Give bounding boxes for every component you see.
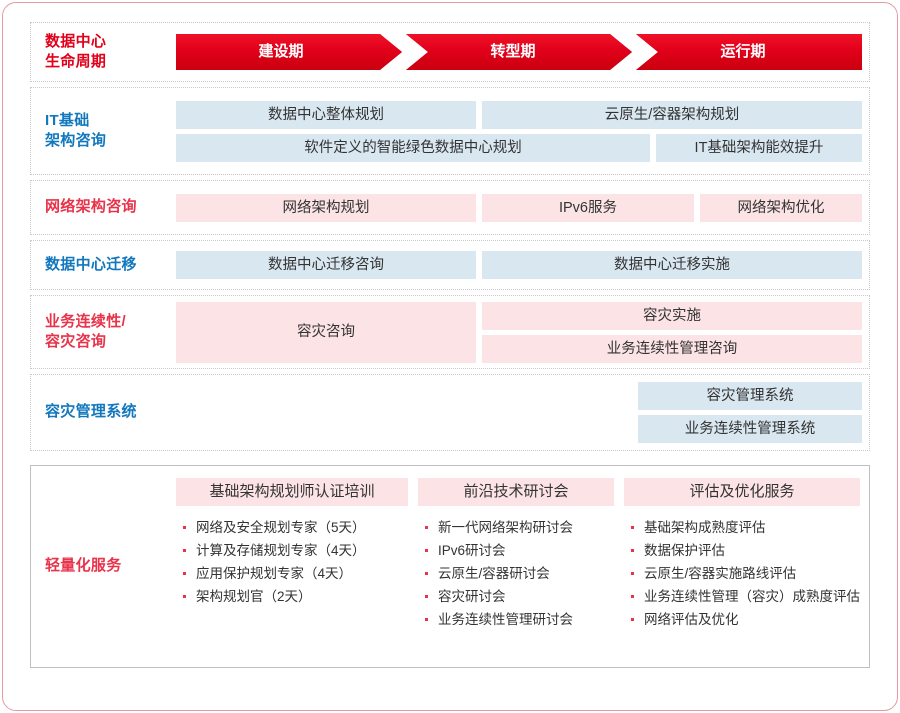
row-datacenter-lifecycle: 数据中心 生命周期 建设期 转型期 运行期: [30, 22, 870, 82]
service-cell[interactable]: 容灾咨询: [176, 302, 476, 363]
band: 容灾咨询 容灾实施 业务连续性管理咨询: [176, 302, 862, 363]
service-cell[interactable]: 网络架构优化: [700, 194, 862, 222]
phase-chevron-transformation[interactable]: 转型期: [406, 34, 632, 70]
phase-label-construction: 建设期: [258, 43, 303, 60]
list-item[interactable]: 新一代网络架构研讨会: [422, 516, 614, 539]
row-label-dr-management-system: 容灾管理系统: [31, 375, 176, 450]
row-lightweight-services: 轻量化服务 基础架构规划师认证培训 网络及安全规划专家（5天） 计算及存储规划专…: [30, 465, 870, 668]
row-label-datacenter-migration-text: 数据中心迁移: [45, 255, 137, 275]
lifecycle-arrow-band: 建设期 转型期 运行期: [176, 34, 862, 70]
list-item[interactable]: 网络及安全规划专家（5天）: [180, 516, 408, 539]
diagram-canvas: 数据中心 生命周期 建设期 转型期 运行期 IT基础 架构咨询: [0, 0, 900, 713]
list-item[interactable]: 容灾研讨会: [422, 585, 614, 608]
lightweight-columns: 基础架构规划师认证培训 网络及安全规划专家（5天） 计算及存储规划专家（4天） …: [176, 466, 874, 667]
service-cell[interactable]: 容灾实施: [482, 302, 862, 330]
row-label-business-continuity: 业务连续性/ 容灾咨询: [31, 296, 176, 368]
phase-chevron-operation[interactable]: 运行期: [636, 34, 862, 70]
lightweight-column-title[interactable]: 基础架构规划师认证培训: [176, 478, 408, 506]
lightweight-column-certification-training: 基础架构规划师认证培训 网络及安全规划专家（5天） 计算及存储规划专家（4天） …: [176, 478, 408, 655]
row-label-datacenter-migration: 数据中心迁移: [31, 241, 176, 289]
band: 软件定义的智能绿色数据中心规划 IT基础架构能效提升: [176, 134, 862, 162]
lightweight-item-list: 新一代网络架构研讨会 IPv6研讨会 云原生/容器研讨会 容灾研讨会 业务连续性…: [418, 516, 614, 631]
list-item[interactable]: 业务连续性管理研讨会: [422, 608, 614, 631]
row-label-dr-management-system-text: 容灾管理系统: [45, 402, 137, 422]
row-label-lifecycle: 数据中心 生命周期: [31, 23, 176, 81]
row-datacenter-migration: 数据中心迁移 数据中心迁移咨询 数据中心迁移实施: [30, 240, 870, 290]
list-item[interactable]: 应用保护规划专家（4天）: [180, 562, 408, 585]
service-cell[interactable]: 网络架构规划: [176, 194, 476, 222]
phase-label-operation: 运行期: [720, 43, 765, 60]
band: 数据中心迁移咨询 数据中心迁移实施: [176, 251, 862, 279]
service-cell[interactable]: 数据中心迁移实施: [482, 251, 862, 279]
list-item[interactable]: 数据保护评估: [628, 539, 860, 562]
list-item[interactable]: 云原生/容器实施路线评估: [628, 562, 860, 585]
phase-label-transformation: 转型期: [490, 43, 535, 60]
band: 容灾管理系统: [632, 382, 862, 410]
row-body-network-architecture: 网络架构规划 IPv6服务 网络架构优化: [176, 181, 869, 234]
row-dr-management-system: 容灾管理系统 容灾管理系统 业务连续性管理系统: [30, 374, 870, 451]
lightweight-column-title[interactable]: 前沿技术研讨会: [418, 478, 614, 506]
service-cell-stack: 容灾实施 业务连续性管理咨询: [482, 302, 862, 363]
lightweight-column-assessment-optimization: 评估及优化服务 基础架构成熟度评估 数据保护评估 云原生/容器实施路线评估 业务…: [624, 478, 860, 655]
row-label-lifecycle-text: 数据中心 生命周期: [45, 32, 106, 73]
service-cell[interactable]: 数据中心迁移咨询: [176, 251, 476, 279]
lightweight-item-list: 网络及安全规划专家（5天） 计算及存储规划专家（4天） 应用保护规划专家（4天）…: [176, 516, 408, 608]
lightweight-column-title[interactable]: 评估及优化服务: [624, 478, 860, 506]
service-cell[interactable]: 数据中心整体规划: [176, 101, 476, 129]
service-cell[interactable]: 容灾管理系统: [638, 382, 862, 410]
service-cell[interactable]: IT基础架构能效提升: [656, 134, 862, 162]
row-label-lightweight-services-text: 轻量化服务: [45, 556, 122, 576]
list-item[interactable]: 网络评估及优化: [628, 608, 860, 631]
row-label-lightweight-services: 轻量化服务: [31, 466, 176, 667]
list-item[interactable]: 架构规划官（2天）: [180, 585, 408, 608]
service-cell[interactable]: 业务连续性管理系统: [638, 415, 862, 443]
lightweight-item-list: 基础架构成熟度评估 数据保护评估 云原生/容器实施路线评估 业务连续性管理（容灾…: [624, 516, 860, 631]
band: 业务连续性管理系统: [632, 415, 862, 443]
service-cell[interactable]: 软件定义的智能绿色数据中心规划: [176, 134, 650, 162]
row-body-business-continuity: 容灾咨询 容灾实施 业务连续性管理咨询: [176, 296, 869, 368]
service-cell[interactable]: IPv6服务: [482, 194, 694, 222]
list-item[interactable]: 基础架构成熟度评估: [628, 516, 860, 539]
row-business-continuity-consulting: 业务连续性/ 容灾咨询 容灾咨询 容灾实施 业务连续性管理咨询: [30, 295, 870, 369]
list-item[interactable]: 业务连续性管理（容灾）成熟度评估: [628, 585, 860, 608]
list-item[interactable]: 计算及存储规划专家（4天）: [180, 539, 408, 562]
lightweight-column-tech-seminars: 前沿技术研讨会 新一代网络架构研讨会 IPv6研讨会 云原生/容器研讨会 容灾研…: [418, 478, 614, 655]
list-item[interactable]: IPv6研讨会: [422, 539, 614, 562]
row-label-business-continuity-text: 业务连续性/ 容灾咨询: [45, 312, 126, 353]
row-body-datacenter-migration: 数据中心迁移咨询 数据中心迁移实施: [176, 241, 869, 289]
rows-container: 数据中心 生命周期 建设期 转型期 运行期 IT基础 架构咨询: [30, 22, 870, 673]
row-network-architecture-consulting: 网络架构咨询 网络架构规划 IPv6服务 网络架构优化: [30, 180, 870, 235]
row-label-it-infrastructure: IT基础 架构咨询: [31, 88, 176, 174]
service-cell[interactable]: 云原生/容器架构规划: [482, 101, 862, 129]
service-cell[interactable]: 业务连续性管理咨询: [482, 335, 862, 363]
phase-chevron-construction[interactable]: 建设期: [176, 34, 402, 70]
row-it-infrastructure-consulting: IT基础 架构咨询 数据中心整体规划 云原生/容器架构规划 软件定义的智能绿色数…: [30, 87, 870, 175]
row-label-network-architecture-text: 网络架构咨询: [45, 197, 137, 217]
band: 数据中心整体规划 云原生/容器架构规划: [176, 101, 862, 129]
band: 网络架构规划 IPv6服务 网络架构优化: [176, 194, 862, 222]
row-body-it-infrastructure: 数据中心整体规划 云原生/容器架构规划 软件定义的智能绿色数据中心规划 IT基础…: [176, 88, 869, 174]
list-item[interactable]: 云原生/容器研讨会: [422, 562, 614, 585]
row-label-network-architecture: 网络架构咨询: [31, 181, 176, 234]
row-label-it-infrastructure-text: IT基础 架构咨询: [45, 111, 106, 152]
row-body-dr-management-system: 容灾管理系统 业务连续性管理系统: [176, 375, 869, 450]
